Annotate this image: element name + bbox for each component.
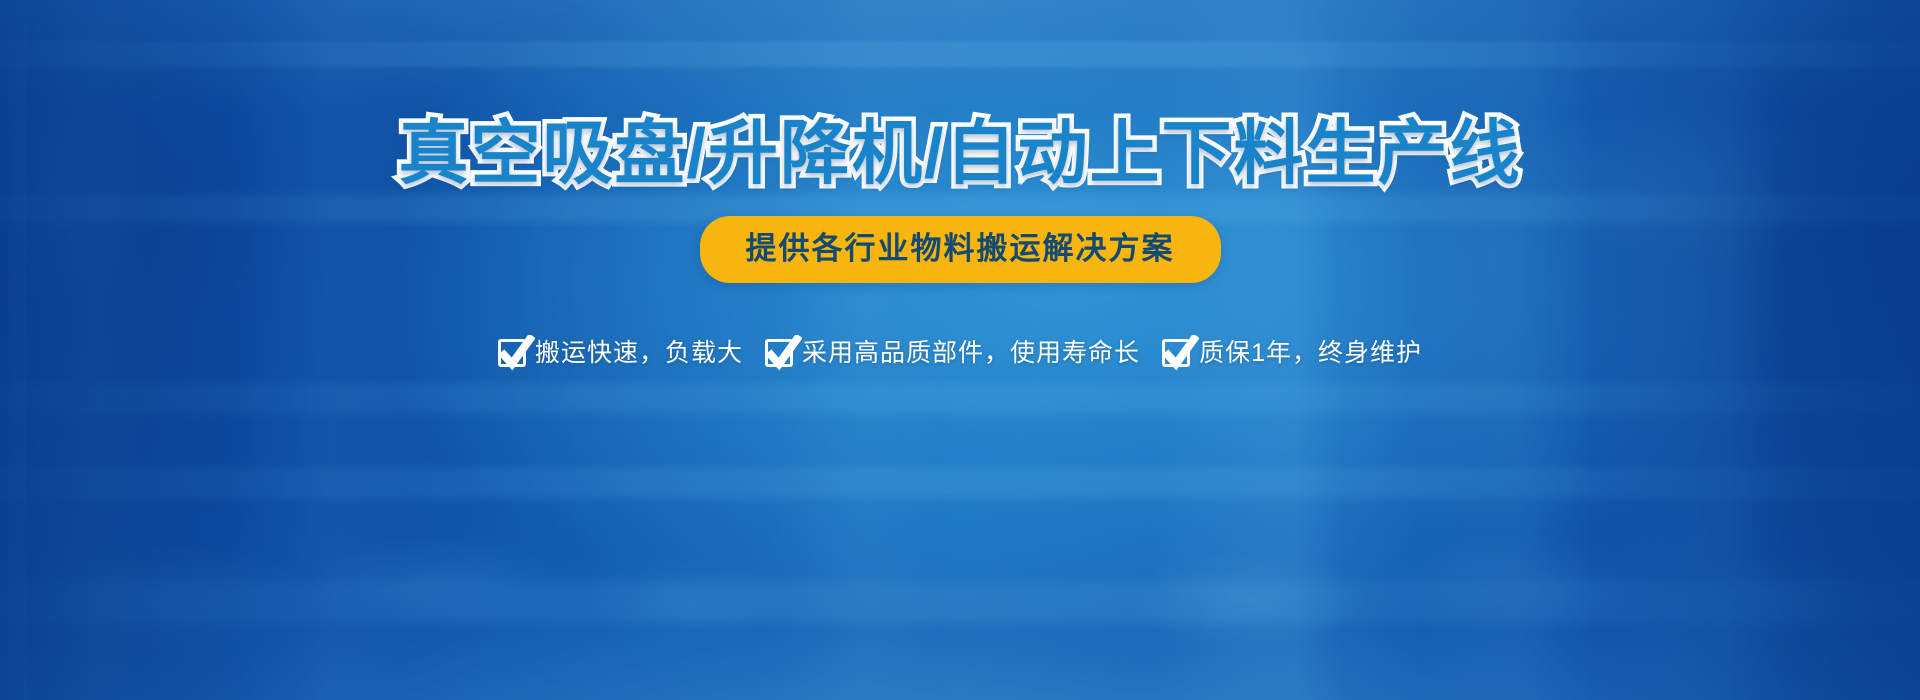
check-box-icon <box>1162 339 1190 367</box>
feature-list: 搬运快速，负载大 采用高品质部件，使用寿命长 质保1年，终身维护 <box>498 339 1422 367</box>
banner-headline: 真空吸盘/升降机/自动上下料生产线 <box>399 118 1522 188</box>
check-box-icon <box>498 339 526 367</box>
banner-content: 真空吸盘/升降机/自动上下料生产线 提供各行业物料搬运解决方案 搬运快速，负载大… <box>0 0 1920 700</box>
feature-label: 搬运快速，负载大 <box>535 341 743 366</box>
feature-item-1: 搬运快速，负载大 <box>498 339 743 367</box>
feature-label: 质保1年，终身维护 <box>1199 341 1422 366</box>
feature-item-3: 质保1年，终身维护 <box>1162 339 1422 367</box>
banner-subtitle-badge: 提供各行业物料搬运解决方案 <box>700 216 1221 283</box>
hero-banner: 真空吸盘/升降机/自动上下料生产线 提供各行业物料搬运解决方案 搬运快速，负载大… <box>0 0 1920 700</box>
feature-item-2: 采用高品质部件，使用寿命长 <box>765 339 1140 367</box>
check-box-icon <box>765 339 793 367</box>
feature-label: 采用高品质部件，使用寿命长 <box>802 341 1140 366</box>
